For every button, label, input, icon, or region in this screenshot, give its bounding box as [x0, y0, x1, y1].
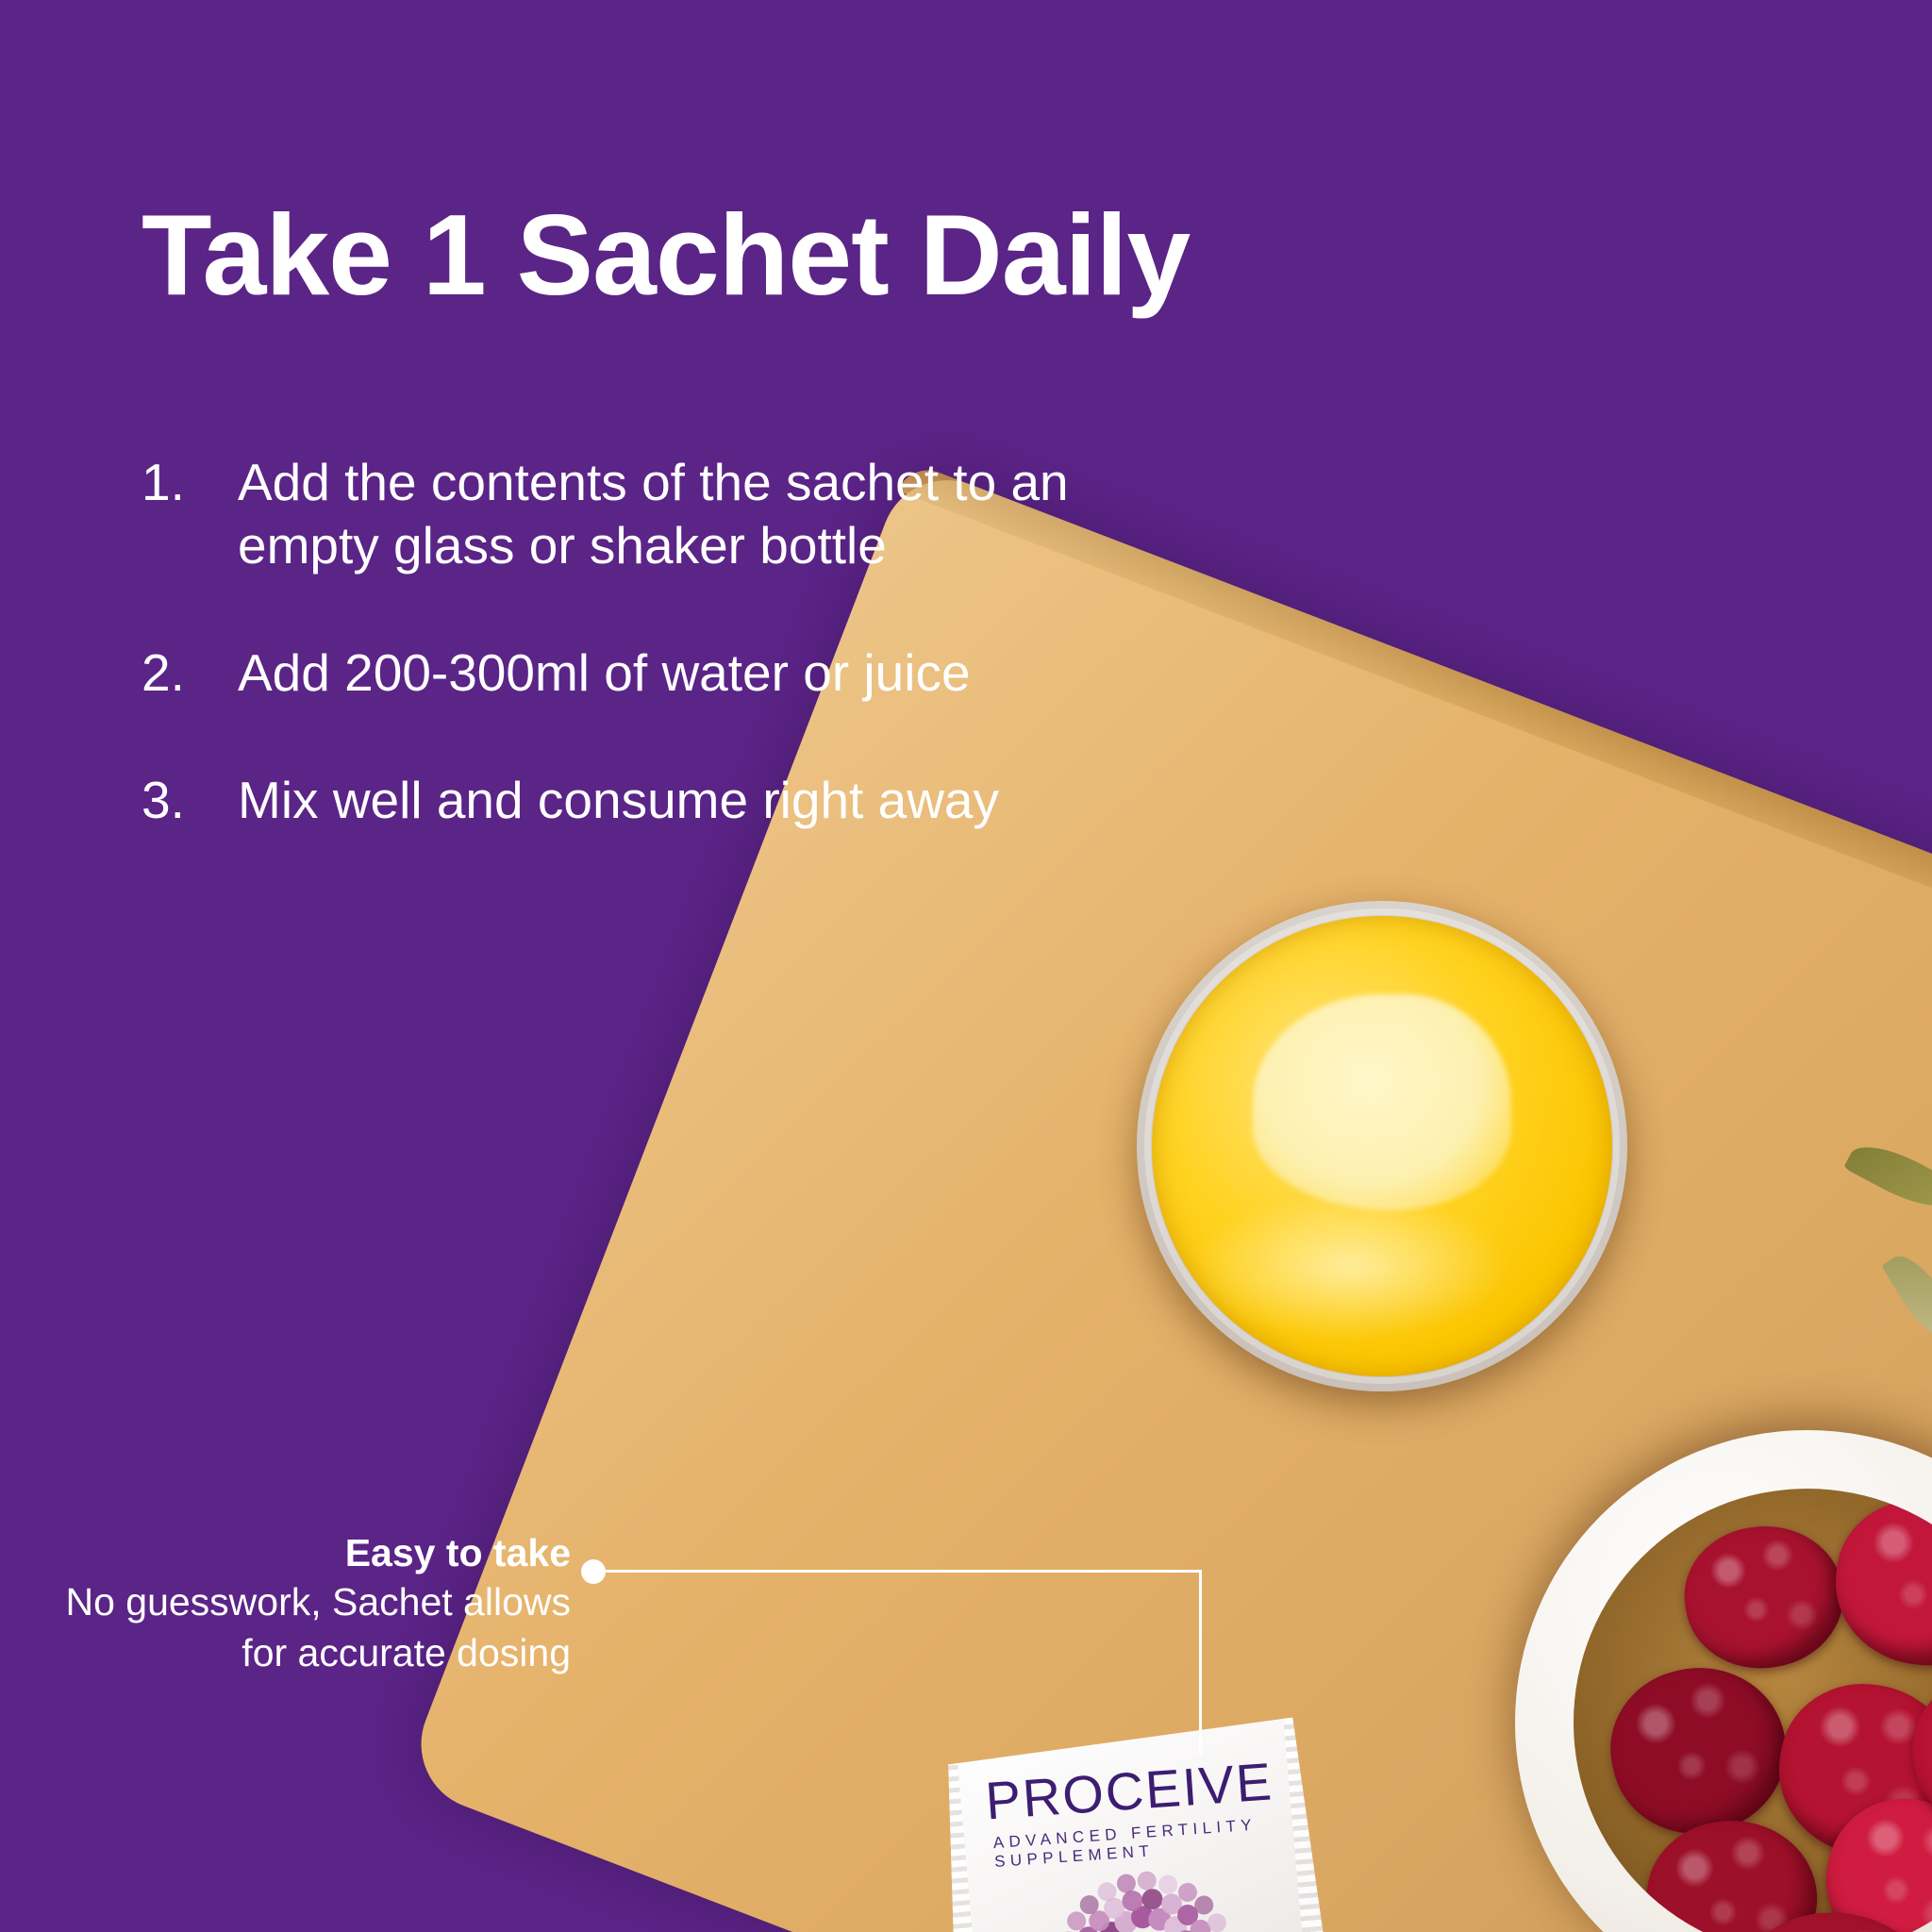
- step-number: 2.: [142, 641, 238, 705]
- callout: Easy to take No guesswork, Sachet allows…: [57, 1528, 571, 1678]
- logo-dot: [1207, 1912, 1227, 1932]
- raspberry: [1640, 1812, 1824, 1932]
- step-text: Add the contents of the sachet to an emp…: [238, 451, 1141, 577]
- leader-line-vertical: [1199, 1570, 1202, 1755]
- juice-glass: [1137, 901, 1627, 1391]
- step-number: 3.: [142, 769, 238, 832]
- leader-dot-icon: [581, 1559, 606, 1584]
- promo-graphic: PROCEIVE ADVANCED FERTILITY SUPPLEMENT T…: [0, 0, 1932, 1932]
- callout-title: Easy to take: [57, 1528, 571, 1577]
- instruction-step: 1.Add the contents of the sachet to an e…: [142, 451, 1141, 577]
- step-text: Mix well and consume right away: [238, 769, 999, 832]
- proceive-logo-icon: [1049, 1865, 1243, 1932]
- logo-dot: [1158, 1874, 1179, 1894]
- instruction-step: 3.Mix well and consume right away: [142, 769, 1141, 832]
- page-title: Take 1 Sachet Daily: [142, 194, 1190, 315]
- instruction-step: 2.Add 200-300ml of water or juice: [142, 641, 1141, 705]
- raspberry: [1675, 1516, 1852, 1678]
- glass-rim: [1144, 908, 1620, 1384]
- instruction-steps: 1.Add the contents of the sachet to an e…: [142, 451, 1141, 896]
- callout-body: No guesswork, Sachet allows for accurate…: [57, 1577, 571, 1678]
- raspberry: [1827, 1491, 1932, 1674]
- raspberry: [1594, 1649, 1804, 1852]
- bowl-contents: [1574, 1489, 1932, 1932]
- step-number: 1.: [142, 451, 238, 577]
- logo-dot: [1194, 1895, 1215, 1916]
- leader-line-horizontal: [604, 1570, 1202, 1573]
- step-text: Add 200-300ml of water or juice: [238, 641, 971, 705]
